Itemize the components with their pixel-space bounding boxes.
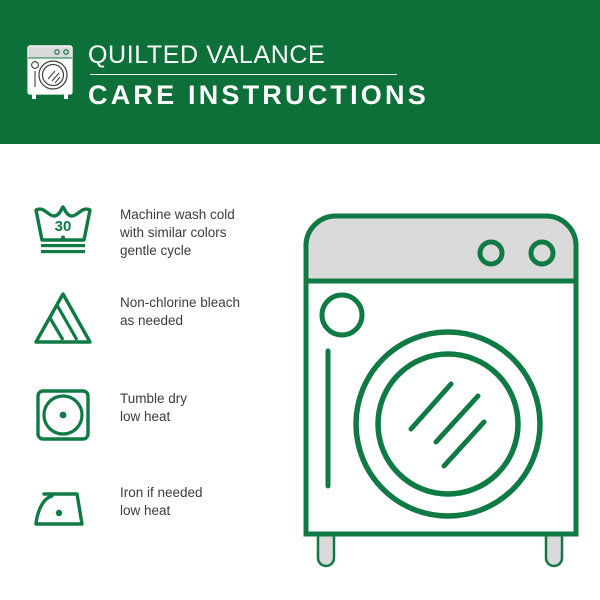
- care-row-iron: Iron if needed low heat: [30, 478, 280, 540]
- care-line: low heat: [120, 502, 203, 520]
- washing-machine-icon: [24, 43, 76, 101]
- care-row-tumble-dry: Tumble dry low heat: [30, 384, 280, 446]
- care-instructions-page: QUILTED VALANCE CARE INSTRUCTIONS 30: [0, 0, 600, 600]
- care-line: as needed: [120, 312, 240, 330]
- care-instruction-list: 30 Machine wash cold with similar colors…: [0, 144, 290, 600]
- page-title: CARE INSTRUCTIONS: [88, 79, 558, 111]
- care-line: gentle cycle: [120, 242, 235, 260]
- care-row-bleach: Non-chlorine bleach as needed: [30, 288, 280, 350]
- care-line: Non-chlorine bleach: [120, 294, 240, 312]
- iron-low-heat-icon: [30, 478, 96, 540]
- care-text-bleach: Non-chlorine bleach as needed: [120, 288, 240, 330]
- machine-wash-30-gentle-icon: 30: [30, 200, 96, 262]
- title-divider: [90, 74, 397, 75]
- non-chlorine-bleach-icon: [30, 288, 96, 350]
- care-line: Machine wash cold: [120, 206, 235, 224]
- care-text-iron: Iron if needed low heat: [120, 478, 203, 520]
- care-line: low heat: [120, 408, 187, 426]
- tumble-dry-low-icon: [30, 384, 96, 446]
- header-banner: QUILTED VALANCE CARE INSTRUCTIONS: [0, 0, 600, 144]
- header-titles: QUILTED VALANCE CARE INSTRUCTIONS: [88, 40, 558, 111]
- wash-temperature-label: 30: [55, 218, 72, 235]
- care-text-tumble-dry: Tumble dry low heat: [120, 384, 187, 426]
- front-load-washing-machine-illustration: [296, 196, 586, 568]
- care-text-machine-wash: Machine wash cold with similar colors ge…: [120, 200, 235, 260]
- care-line: Iron if needed: [120, 484, 203, 502]
- care-line: with similar colors: [120, 224, 235, 242]
- product-title: QUILTED VALANCE: [88, 40, 558, 70]
- care-line: Tumble dry: [120, 390, 187, 408]
- care-row-machine-wash: 30 Machine wash cold with similar colors…: [30, 200, 280, 262]
